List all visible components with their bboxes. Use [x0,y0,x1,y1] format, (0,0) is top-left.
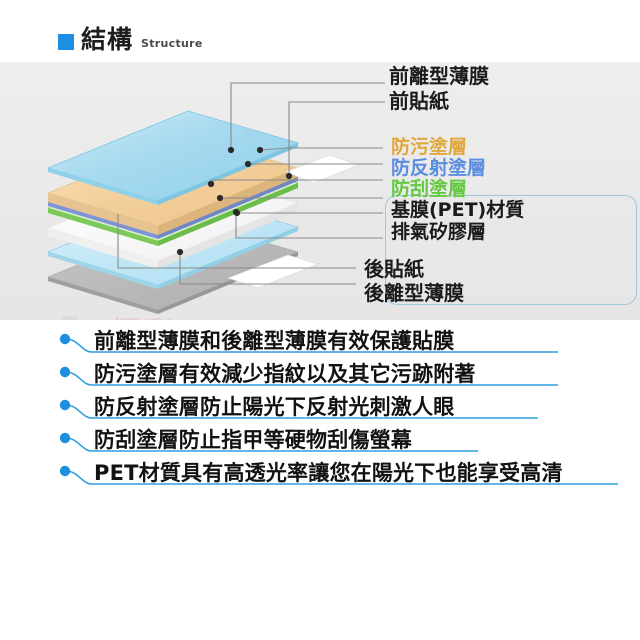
exploded-layers-illustration [0,62,640,320]
list-item: 防刮塗層防止指甲等硬物刮傷螢幕 [58,427,588,460]
bullet-pet-clarity: PET材質具有高透光率讓您在陽光下也能享受高清 [94,460,563,486]
callout-anti-scratch-coating: 防刮塗層 [391,180,467,199]
list-item: 前離型薄膜和後離型薄膜有效保護貼膜 [58,328,588,361]
callout-pet-base-film: 基膜(PET)材質 [391,201,524,220]
bullet-release-films: 前離型薄膜和後離型薄膜有效保護貼膜 [94,328,454,354]
callout-front-release-film: 前離型薄膜 [389,66,489,86]
layer-diagram-panel: 前離型薄膜 前貼紙 防污塗層 防反射塗層 防刮塗層 基膜(PET)材質 排氣矽膠… [0,62,640,320]
list-item: 防反射塗層防止陽光下反射光刺激人眼 [58,394,588,427]
header-inner: 結構 Structure [58,26,203,54]
callout-silicone-air-release-layer: 排氣矽膠層 [391,223,486,242]
page-header: 結構 Structure [0,0,640,62]
callout-front-sticker: 前貼紙 [389,91,449,111]
bullet-anti-fouling: 防污塗層有效減少指紋以及其它污跡附著 [94,361,476,387]
list-item: 防污塗層有效減少指紋以及其它污跡附著 [58,361,588,394]
list-item: PET材質具有高透光率讓您在陽光下也能享受高清 [58,460,618,493]
page-subtitle: Structure [141,37,203,50]
callout-back-sticker: 後貼紙 [364,259,424,279]
bullet-anti-scratch: 防刮塗層防止指甲等硬物刮傷螢幕 [94,427,412,453]
camera-icon [48,314,104,320]
product-structure-infographic: 結構 Structure [0,0,640,640]
feature-list: 前離型薄膜和後離型薄膜有效保護貼膜 防污塗層有效減少指紋以及其它污跡附著 防反射… [0,322,640,522]
bullet-anti-reflective: 防反射塗層防止陽光下反射光刺激人眼 [94,394,454,420]
callout-back-release-film: 後離型薄膜 [364,283,464,303]
watermark-brand: 攝彩 [107,308,177,320]
watermark: 攝彩 請勿盜圖，違者必究 [48,314,258,320]
page-title: 結構 [81,26,133,54]
blue-square-icon [58,34,74,50]
callout-anti-reflective-coating: 防反射塗層 [391,159,486,178]
callout-anti-fouling-coating: 防污塗層 [391,138,467,157]
